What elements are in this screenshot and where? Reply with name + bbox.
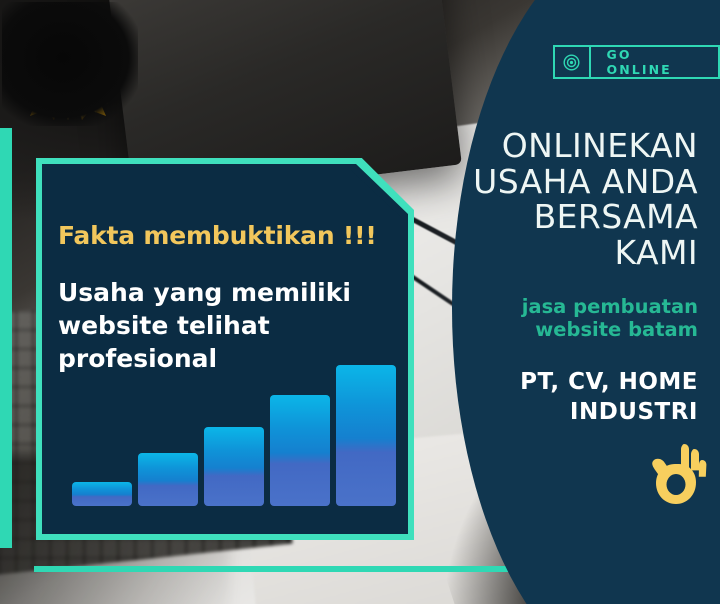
ok-hand-emoji-icon [646,438,708,510]
bar-2 [138,453,198,506]
promo-headline: ONLINEKAN USAHA ANDA BERSAMA KAMI [278,128,698,271]
promo-subtitle-line-1: jasa pembuatan [522,295,698,318]
promo-headline-line-1: ONLINEKAN [502,126,698,165]
promo-subtitle: jasa pembuatan website batam [278,295,698,343]
left-accent-stripe [0,128,12,548]
poster-canvas: BEST QUALITY BEST QUALITY BEST QUALITY B… [0,0,720,604]
promo-subtitle-line-2: website batam [535,318,698,341]
go-online-label: GO ONLINE [591,47,718,77]
go-online-button[interactable]: GO ONLINE [553,45,720,79]
badge-backdrop [2,2,138,126]
promo-tagline-line-1: PT, CV, HOME [520,369,698,395]
best-seller-badge: BEST QUALITY BEST QUALITY BEST QUALITY B… [2,2,138,126]
promo-tagline: PT, CV, HOME INDUSTRI [278,368,698,428]
promo-headline-line-4: KAMI [615,233,698,272]
promo-headline-line-2: USAHA ANDA [473,162,698,201]
right-text-block: ONLINEKAN USAHA ANDA BERSAMA KAMI jasa p… [278,128,698,428]
bar-3 [204,427,264,506]
promo-headline-line-3: BERSAMA [534,197,698,236]
bar-1 [72,482,132,506]
promo-tagline-line-2: INDUSTRI [570,399,698,425]
target-icon [555,47,591,77]
